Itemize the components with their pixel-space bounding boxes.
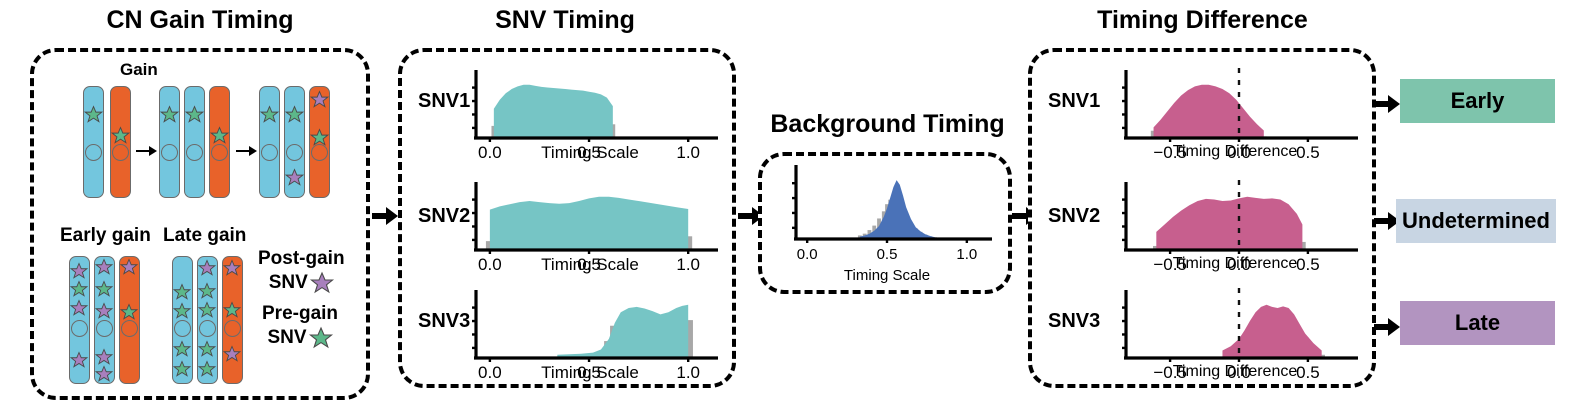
x-tick-label: 0.5	[877, 246, 898, 263]
density-area	[1154, 85, 1264, 138]
star-icon	[70, 280, 88, 298]
chart-snv2-timing: 0.00.51.0	[462, 180, 718, 252]
star-icon	[223, 345, 241, 363]
centromere	[121, 320, 138, 337]
chart-background-timing: 0.00.51.0	[782, 163, 992, 241]
snv1-diff-row-label: SNV1	[1048, 90, 1100, 113]
late-gain-label: Late gain	[163, 225, 246, 247]
arrow-to-late	[1374, 316, 1400, 338]
star-icon	[173, 360, 191, 378]
chart-snv1-timing: 0.00.51.0	[462, 68, 718, 140]
chromosome-blue	[259, 86, 280, 198]
centromere	[112, 144, 129, 161]
star-icon	[120, 258, 138, 276]
centromere	[71, 320, 88, 337]
star-icon	[70, 299, 88, 317]
density-area	[1222, 305, 1321, 358]
chromosome-blue	[159, 86, 180, 198]
legend-pre-gain: Pre-gain SNV	[262, 303, 338, 350]
star-icon	[111, 126, 130, 145]
early-gain-label: Early gain	[60, 225, 151, 247]
centromere	[224, 320, 241, 337]
star-icon	[120, 303, 138, 321]
star-icon	[95, 280, 113, 298]
star-icon	[70, 351, 88, 369]
legend-pre-gain-line1: Pre-gain	[262, 303, 338, 325]
star-icon	[223, 301, 241, 319]
star-icon	[95, 258, 113, 276]
star-icon	[95, 348, 113, 366]
star-icon	[310, 90, 329, 109]
centromere	[85, 144, 102, 161]
star-icon	[95, 302, 113, 320]
panel-title-background: Background Timing	[750, 110, 1025, 139]
snv3-axis-label: Timing Scale	[462, 363, 718, 383]
snv3-diff-axis-label: Timing Difference	[1112, 363, 1358, 381]
star-icon	[173, 340, 191, 358]
star-icon	[260, 105, 279, 124]
centromere	[96, 320, 113, 337]
star-icon	[223, 259, 241, 277]
centromere	[199, 320, 216, 337]
panel-title-snv-timing: SNV Timing	[400, 6, 730, 35]
density-area	[1156, 197, 1302, 250]
density-area	[494, 85, 613, 138]
x-tick-label: 1.0	[956, 246, 977, 263]
density-area	[490, 197, 688, 250]
centromere	[286, 144, 303, 161]
figure-root: CN Gain Timing SNV Timing Background Tim…	[0, 0, 1570, 418]
star-icon	[310, 128, 329, 147]
centromere	[186, 144, 203, 161]
chart-snv3-timing: 0.00.51.0	[462, 288, 718, 360]
star-icon	[309, 326, 333, 350]
density-area	[557, 305, 688, 358]
star-icon	[198, 259, 216, 277]
snv3-diff-row-label: SNV3	[1048, 310, 1100, 333]
background-axis-label: Timing Scale	[782, 267, 992, 284]
snv1-diff-axis-label: Timing Difference	[1112, 143, 1358, 161]
star-icon	[285, 168, 304, 187]
legend-post-gain-line2: SNV	[269, 272, 308, 294]
arrow-to-early	[1374, 93, 1400, 115]
category-box-late[interactable]: Late	[1400, 301, 1555, 345]
star-icon	[95, 365, 113, 383]
star-icon	[173, 283, 191, 301]
arrow-gain-step-1	[136, 143, 158, 159]
chart-snv3-difference: −0.50.00.5	[1112, 288, 1358, 360]
chromosome-blue	[184, 86, 205, 198]
centromere	[161, 144, 178, 161]
category-box-undetermined[interactable]: Undetermined	[1396, 199, 1556, 243]
snv2-diff-row-label: SNV2	[1048, 205, 1100, 228]
category-box-early[interactable]: Early	[1400, 79, 1555, 123]
chart-snv2-difference: −0.50.00.5	[1112, 180, 1358, 252]
star-icon	[198, 301, 216, 319]
legend-pre-gain-line2: SNV	[267, 327, 306, 349]
centromere	[261, 144, 278, 161]
arrow-gain-step-2	[236, 143, 258, 159]
star-icon	[198, 282, 216, 300]
star-icon	[310, 271, 334, 295]
chart-svg: 0.00.51.0	[782, 163, 992, 265]
centromere	[211, 144, 228, 161]
star-icon	[285, 105, 304, 124]
panel-title-cn-gain: CN Gain Timing	[30, 6, 370, 35]
star-icon	[160, 105, 179, 124]
panel-title-timing-difference: Timing Difference	[1030, 6, 1375, 35]
legend-post-gain-line1: Post-gain	[258, 248, 345, 270]
gain-label: Gain	[120, 60, 158, 80]
star-icon	[185, 105, 204, 124]
x-tick-label: 0.0	[797, 246, 818, 263]
snv1-axis-label: Timing Scale	[462, 143, 718, 163]
star-icon	[84, 105, 103, 124]
star-icon	[198, 340, 216, 358]
snv2-diff-axis-label: Timing Difference	[1112, 255, 1358, 273]
star-icon	[70, 262, 88, 280]
star-icon	[173, 302, 191, 320]
arrow-cn-to-snv	[372, 205, 398, 227]
snv2-axis-label: Timing Scale	[462, 255, 718, 275]
star-icon	[198, 360, 216, 378]
legend-post-gain: Post-gain SNV	[258, 248, 345, 295]
star-icon	[210, 126, 229, 145]
chart-snv1-difference: −0.50.00.5	[1112, 68, 1358, 140]
centromere	[174, 320, 191, 337]
chromosome-blue	[83, 86, 104, 198]
